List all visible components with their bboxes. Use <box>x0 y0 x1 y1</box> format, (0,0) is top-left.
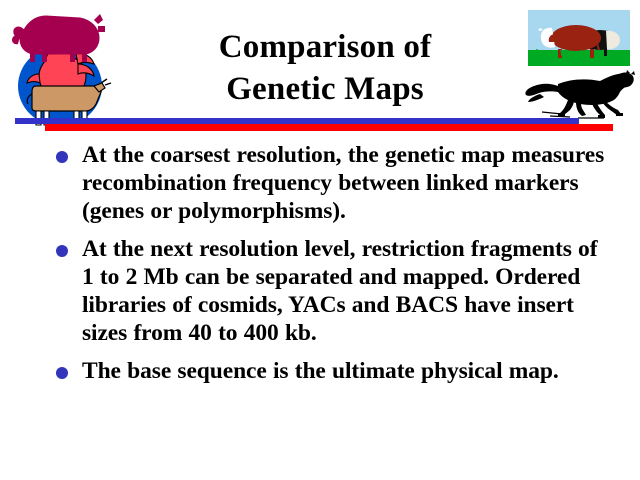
bullet-dot-icon <box>56 367 68 379</box>
slide-header: Comparison of Genetic Maps <box>0 0 640 134</box>
list-item: The base sequence is the ultimate physic… <box>50 357 635 385</box>
page-title: Comparison of Genetic Maps <box>150 26 500 110</box>
livestock-genome-logo <box>6 4 114 128</box>
cattle-in-pasture-photo <box>528 10 630 66</box>
divider-bar-red <box>45 124 613 131</box>
page-title-line-2: Genetic Maps <box>150 68 500 110</box>
page-title-line-1: Comparison of <box>150 26 500 68</box>
list-item: At the next resolution level, restrictio… <box>50 235 635 347</box>
list-item-text: At the next resolution level, restrictio… <box>82 235 602 347</box>
list-item: At the coarsest resolution, the genetic … <box>50 141 635 225</box>
bullet-dot-icon <box>56 151 68 163</box>
galloping-horse-silhouette <box>520 70 636 120</box>
slide-body: At the coarsest resolution, the genetic … <box>50 141 635 395</box>
list-item-text: At the coarsest resolution, the genetic … <box>82 141 630 225</box>
bullet-dot-icon <box>56 245 68 257</box>
list-item-text: The base sequence is the ultimate physic… <box>82 357 630 385</box>
presentation-slide: Comparison of Genetic Maps <box>0 0 640 480</box>
